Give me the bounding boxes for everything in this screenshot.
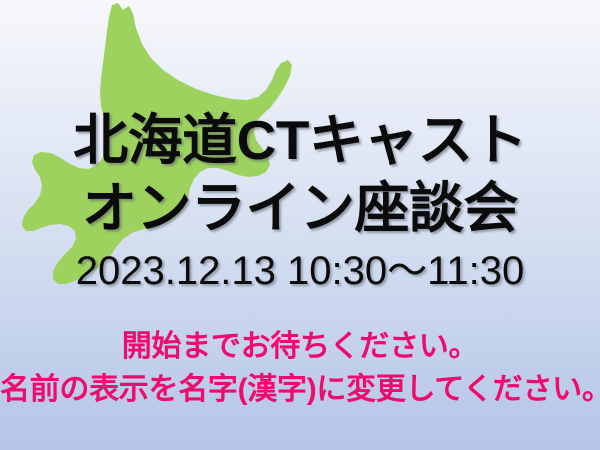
- event-datetime: 2023.12.13 10:30〜11:30: [0, 251, 600, 291]
- page-title-line-2: オンライン座談会: [0, 181, 600, 236]
- waiting-room-slide: 北海道CTキャスト オンライン座談会 2023.12.13 10:30〜11:3…: [0, 0, 600, 450]
- slide-text-stack: 北海道CTキャスト オンライン座談会 2023.12.13 10:30〜11:3…: [0, 0, 600, 450]
- notice-wait-message: 開始までお待ちください。: [0, 332, 600, 362]
- notice-rename-message: 名前の表示を名字(漢字)に変更してください。: [0, 375, 600, 405]
- page-title-line-1: 北海道CTキャスト: [0, 113, 600, 168]
